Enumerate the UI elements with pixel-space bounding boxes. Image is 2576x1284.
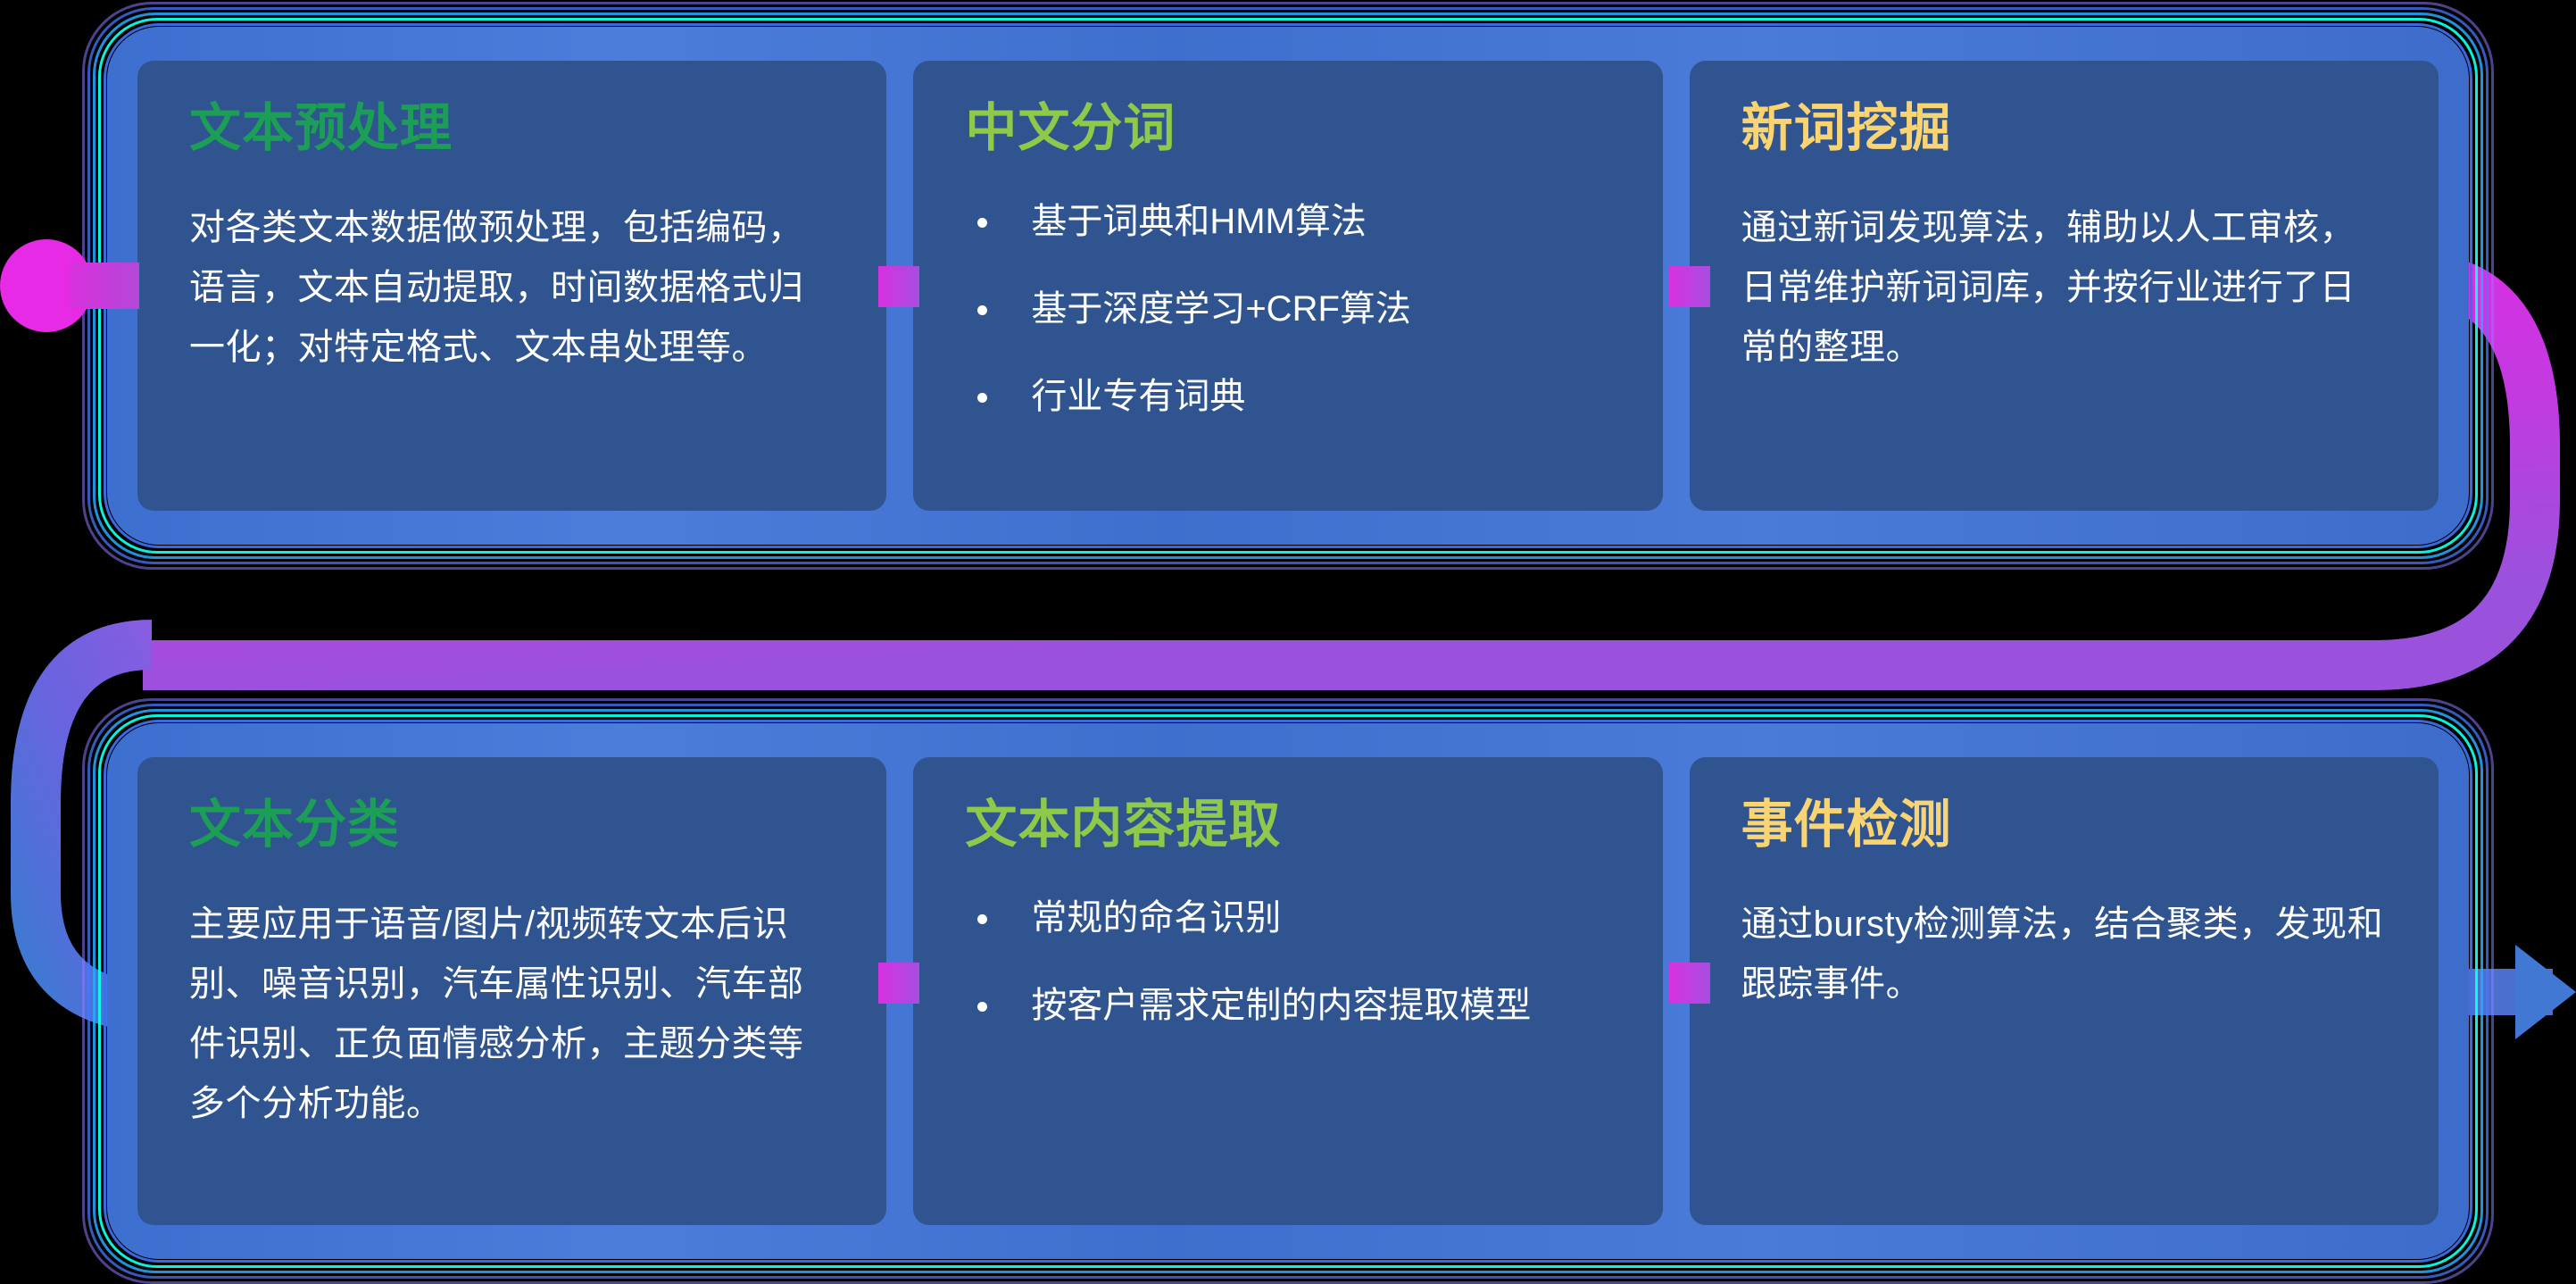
list-item: 按客户需求定制的内容提取模型 — [965, 982, 1610, 1029]
card-link — [1669, 266, 1710, 307]
card-title: 新词挖掘 — [1741, 100, 2387, 157]
list-item-label: 按客户需求定制的内容提取模型 — [1031, 986, 1531, 1025]
card-chinese-segmentation[interactable]: 中文分词 基于词典和HMM算法 基于深度学习+CRF算法 行业专有词典 — [913, 61, 1662, 511]
list-item-label: 常规的命名识别 — [1031, 898, 1281, 938]
card-title: 文本分类 — [189, 796, 835, 854]
list-item: 基于词典和HMM算法 — [965, 198, 1610, 245]
card-text-preprocessing[interactable]: 文本预处理 对各类文本数据做预处理，包括编码，语言，文本自动提取，时间数据格式归… — [137, 61, 886, 511]
card-text-classification[interactable]: 文本分类 主要应用于语音/图片/视频转文本后识别、噪音识别，汽车属性识别、汽车部… — [137, 757, 886, 1225]
card-title: 事件检测 — [1741, 796, 2387, 854]
bullet-dot-icon — [977, 218, 987, 228]
list-item: 行业专有词典 — [965, 373, 1610, 420]
row-upper-band: 文本预处理 对各类文本数据做预处理，包括编码，语言，文本自动提取，时间数据格式归… — [107, 27, 2469, 545]
list-item-label: 行业专有词典 — [1031, 377, 1245, 416]
list-item-label: 基于词典和HMM算法 — [1031, 202, 1367, 241]
card-event-detection[interactable]: 事件检测 通过bursty检测算法，结合聚类，发现和跟踪事件。 — [1690, 757, 2439, 1225]
card-title: 文本内容提取 — [965, 796, 1610, 854]
bullet-dot-icon — [977, 1002, 987, 1012]
bullet-list: 常规的命名识别 按客户需求定制的内容提取模型 — [965, 895, 1610, 1029]
card-title: 文本预处理 — [189, 100, 835, 157]
card-body: 通过bursty检测算法，结合聚类，发现和跟踪事件。 — [1741, 895, 2387, 1014]
row-lower: 文本分类 主要应用于语音/图片/视频转文本后识别、噪音识别，汽车属性识别、汽车部… — [107, 723, 2469, 1259]
start-node-stem — [70, 263, 139, 309]
list-item-label: 基于深度学习+CRF算法 — [1031, 289, 1411, 329]
bullet-dot-icon — [977, 305, 987, 315]
card-link — [878, 266, 919, 307]
row-upper: 文本预处理 对各类文本数据做预处理，包括编码，语言，文本自动提取，时间数据格式归… — [107, 27, 2469, 545]
card-link — [878, 963, 919, 1004]
card-body: 主要应用于语音/图片/视频转文本后识别、噪音识别，汽车属性识别、汽车部件识别、正… — [189, 895, 835, 1135]
bullet-list: 基于词典和HMM算法 基于深度学习+CRF算法 行业专有词典 — [965, 198, 1610, 420]
bullet-dot-icon — [977, 914, 987, 924]
card-title: 中文分词 — [965, 100, 1610, 157]
card-content-extraction[interactable]: 文本内容提取 常规的命名识别 按客户需求定制的内容提取模型 — [913, 757, 1662, 1225]
card-body: 通过新词发现算法，辅助以人工审核，日常维护新词词库，并按行业进行了日常的整理。 — [1741, 198, 2387, 379]
card-body: 对各类文本数据做预处理，包括编码，语言，文本自动提取，时间数据格式归一化；对特定… — [189, 198, 835, 379]
bullet-dot-icon — [977, 393, 987, 403]
list-item: 常规的命名识别 — [965, 895, 1610, 941]
list-item: 基于深度学习+CRF算法 — [965, 286, 1610, 332]
start-node — [0, 239, 136, 332]
card-new-word-mining[interactable]: 新词挖掘 通过新词发现算法，辅助以人工审核，日常维护新词词库，并按行业进行了日常… — [1690, 61, 2439, 511]
end-arrow-head — [2515, 945, 2576, 1039]
diagram-canvas: 文本预处理 对各类文本数据做预处理，包括编码，语言，文本自动提取，时间数据格式归… — [0, 0, 2576, 1278]
card-link — [1669, 963, 1710, 1004]
row-lower-band: 文本分类 主要应用于语音/图片/视频转文本后识别、噪音识别，汽车属性识别、汽车部… — [107, 723, 2469, 1259]
